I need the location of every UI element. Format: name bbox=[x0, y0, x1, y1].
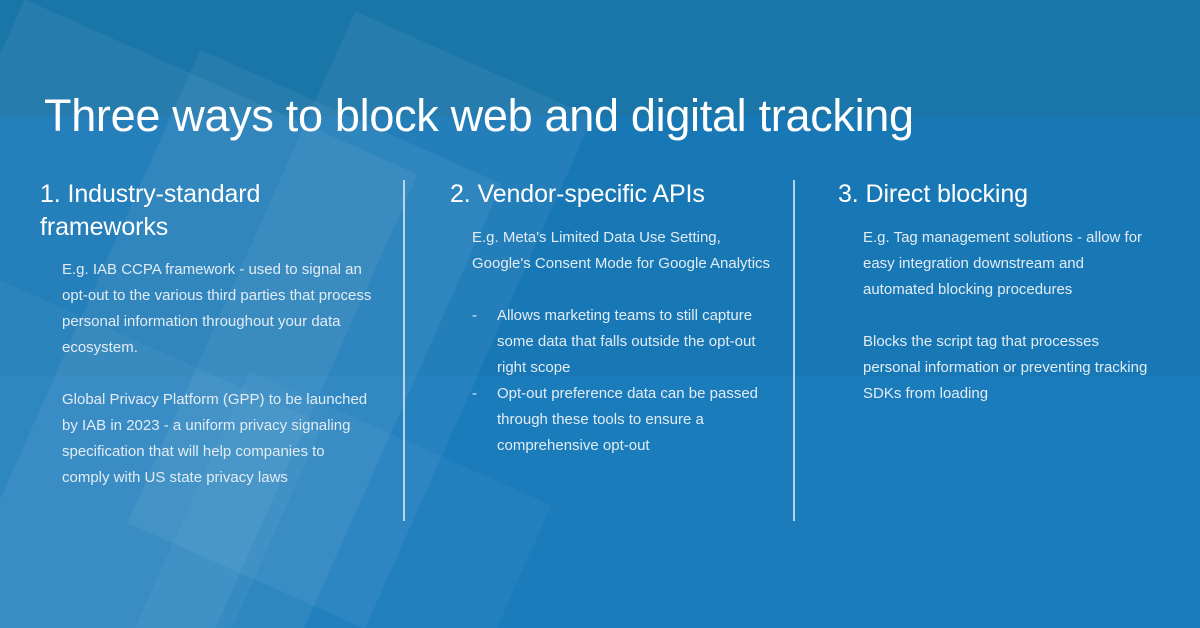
paragraph: E.g. Meta's Limited Data Use Setting, Go… bbox=[472, 225, 778, 277]
page-title: Three ways to block web and digital trac… bbox=[44, 90, 1144, 142]
column-industry-standard-frameworks: 1. Industry-standard frameworks E.g. IAB… bbox=[40, 178, 370, 491]
paragraph: Global Privacy Platform (GPP) to be laun… bbox=[62, 387, 372, 491]
slide-root: Three ways to block web and digital trac… bbox=[0, 0, 1200, 628]
paragraph: Blocks the script tag that processes per… bbox=[863, 329, 1148, 407]
column-vendor-specific-apis: 2. Vendor-specific APIs E.g. Meta's Limi… bbox=[450, 178, 780, 459]
column-heading: 1. Industry-standard frameworks bbox=[40, 178, 370, 243]
slide-content: Three ways to block web and digital trac… bbox=[0, 0, 1200, 628]
column-heading: 2. Vendor-specific APIs bbox=[450, 178, 780, 211]
list-item: - Allows marketing teams to still captur… bbox=[472, 303, 778, 381]
column-divider-2 bbox=[793, 180, 795, 521]
list-item-label: Allows marketing teams to still capture … bbox=[497, 307, 756, 376]
list-item: - Opt-out preference data can be passed … bbox=[472, 381, 778, 459]
bullet-marker-icon: - bbox=[472, 381, 477, 407]
paragraph: E.g. Tag management solutions - allow fo… bbox=[863, 225, 1148, 303]
bullet-list: - Allows marketing teams to still captur… bbox=[472, 303, 778, 459]
paragraph: E.g. IAB CCPA framework - used to signal… bbox=[62, 257, 372, 361]
list-item-label: Opt-out preference data can be passed th… bbox=[497, 385, 758, 454]
column-heading: 3. Direct blocking bbox=[838, 178, 1148, 211]
bullet-marker-icon: - bbox=[472, 303, 477, 329]
column-body: E.g. IAB CCPA framework - used to signal… bbox=[40, 257, 372, 491]
column-direct-blocking: 3. Direct blocking E.g. Tag management s… bbox=[838, 178, 1148, 407]
column-divider-1 bbox=[403, 180, 405, 521]
column-body: E.g. Meta's Limited Data Use Setting, Go… bbox=[450, 225, 778, 459]
column-body: E.g. Tag management solutions - allow fo… bbox=[838, 225, 1148, 407]
